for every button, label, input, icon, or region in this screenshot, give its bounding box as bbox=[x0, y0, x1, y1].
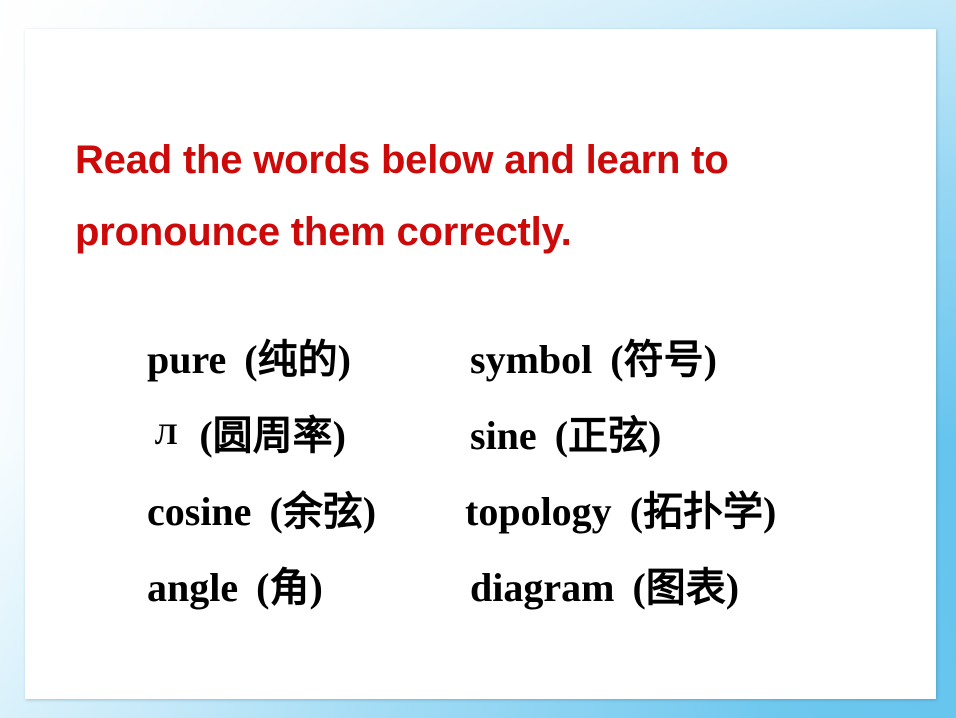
vocabulary-row: angle (角) diagram (图表) bbox=[25, 557, 936, 633]
vocabulary-term: angle bbox=[147, 565, 238, 610]
vocabulary-row: pure (纯的) symbol (符号) bbox=[25, 329, 936, 405]
vocabulary-item-sine: sine (正弦) bbox=[470, 405, 661, 467]
slide-heading: Read the words below and learn to pronou… bbox=[75, 124, 905, 268]
vocabulary-term: pure bbox=[147, 337, 226, 382]
slide-canvas: Read the words below and learn to pronou… bbox=[0, 0, 956, 718]
vocabulary-term: cosine bbox=[147, 489, 251, 534]
vocabulary-item-diagram: diagram (图表) bbox=[470, 557, 739, 619]
heading-line-2: pronounce them correctly. bbox=[75, 196, 905, 268]
vocabulary-row: cosine (余弦) topology (拓扑学) bbox=[25, 481, 936, 557]
vocabulary-gloss: (拓扑学) bbox=[630, 489, 777, 534]
vocabulary-gloss: (图表) bbox=[632, 565, 739, 610]
vocabulary-item-pure: pure (纯的) bbox=[147, 329, 351, 391]
vocabulary-gloss: (角) bbox=[256, 565, 323, 610]
vocabulary-gloss: (正弦) bbox=[555, 413, 662, 458]
vocabulary-term: sine bbox=[470, 413, 537, 458]
vocabulary-gloss: (圆周率) bbox=[199, 413, 346, 458]
vocabulary-term: diagram bbox=[470, 565, 614, 610]
vocabulary-item-angle: angle (角) bbox=[147, 557, 323, 619]
vocabulary-gloss: (余弦) bbox=[269, 489, 376, 534]
vocabulary-list: pure (纯的) symbol (符号) Л (圆周率) sine (正弦) bbox=[25, 329, 936, 633]
heading-line-1: Read the words below and learn to bbox=[75, 124, 905, 196]
vocabulary-item-topology: topology (拓扑学) bbox=[465, 481, 776, 543]
vocabulary-term: topology bbox=[465, 489, 612, 534]
vocabulary-gloss: (纯的) bbox=[244, 337, 351, 382]
vocabulary-item-cosine: cosine (余弦) bbox=[147, 481, 376, 543]
content-card: Read the words below and learn to pronou… bbox=[25, 29, 936, 699]
vocabulary-term: symbol bbox=[470, 337, 592, 382]
vocabulary-row: Л (圆周率) sine (正弦) bbox=[25, 405, 936, 481]
pi-symbol-icon: Л bbox=[155, 418, 181, 451]
vocabulary-gloss: (符号) bbox=[610, 337, 717, 382]
vocabulary-item-pi: Л (圆周率) bbox=[155, 405, 346, 471]
vocabulary-item-symbol: symbol (符号) bbox=[470, 329, 717, 391]
